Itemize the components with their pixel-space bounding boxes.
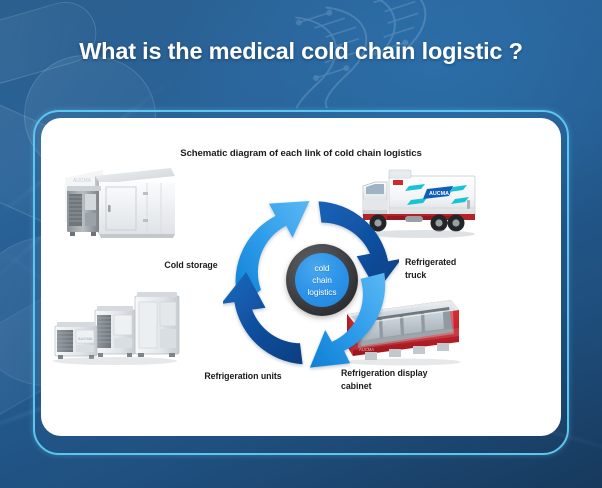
hub-label-line-2: chain [312, 275, 332, 286]
node-label-refrigerated-truck: Refrigeratedtruck [405, 256, 501, 282]
node-label-display-cabinet: Refrigeration displaycabinet [341, 367, 461, 393]
svg-text:AUCMA: AUCMA [429, 191, 449, 197]
node-label-refrigeration-units: Refrigeration units [187, 370, 299, 383]
refrigeration-condensing-units-photo: AUCMA [49, 282, 185, 368]
hub-label-line-3: logistics [308, 287, 337, 298]
svg-text:AUCMA: AUCMA [73, 178, 92, 184]
page-title: What is the medical cold chain logistic … [0, 38, 602, 65]
hub-label-line-1: cold [315, 263, 330, 274]
slide-stage: What is the medical cold chain logistic … [0, 0, 602, 488]
content-card: Schematic diagram of each link of cold c… [41, 118, 561, 436]
cycle-center-hub: cold chain logistics [286, 244, 358, 316]
cycle-center-hub-inner: cold chain logistics [295, 253, 349, 307]
cold-storage-room-photo: AUCMA [59, 156, 181, 248]
node-label-cold-storage: Cold storage [145, 259, 237, 272]
svg-text:AUCMA: AUCMA [78, 336, 93, 341]
